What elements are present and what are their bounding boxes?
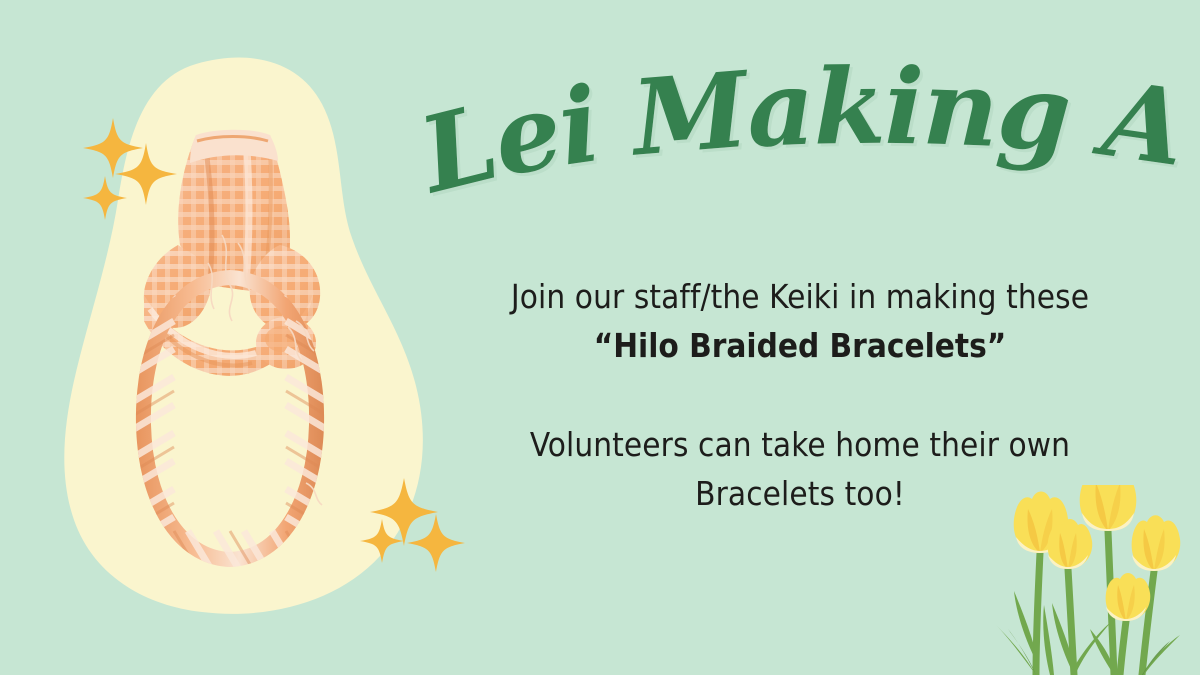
body-line-1: Join our staff/the Keiki in making these: [420, 272, 1180, 321]
poster-canvas: Lei Making Activity Join our staff/the K…: [0, 0, 1200, 675]
tulip: [1106, 573, 1151, 621]
tulips-illustration: [990, 485, 1200, 675]
poster-title-text: Lei Making Activity: [377, 0, 1192, 218]
poster-title: Lei Making Activity: [408, 78, 1188, 228]
poster-body-copy: Join our staff/the Keiki in making these…: [420, 272, 1180, 518]
body-line-2: “Hilo Braided Bracelets”: [420, 321, 1180, 370]
copy-spacer: [420, 370, 1180, 420]
tulip: [1132, 515, 1181, 571]
lei-bracelet-photo: [100, 95, 360, 595]
tulip: [1048, 519, 1093, 569]
body-line-3: Volunteers can take home their own: [420, 420, 1180, 469]
tulip: [1080, 485, 1137, 531]
